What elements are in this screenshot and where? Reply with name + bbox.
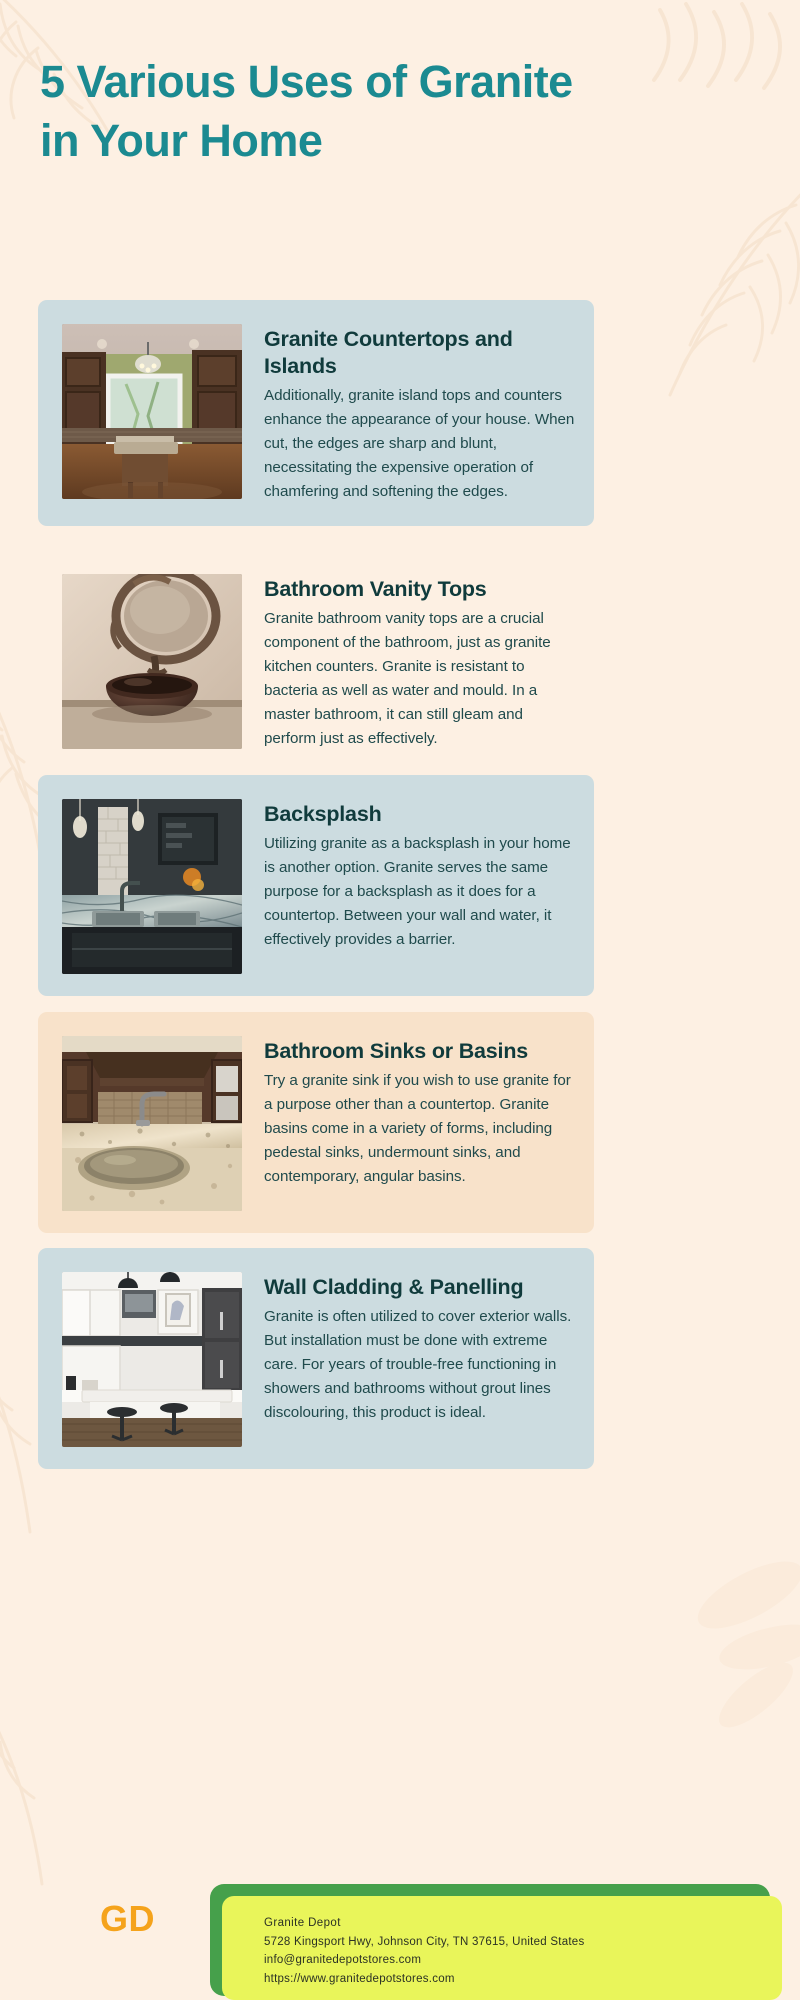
card-3-title: Backsplash — [264, 801, 578, 828]
card-granite-countertops: Granite Countertops and Islands Addition… — [38, 300, 594, 526]
infographic-page: 5 Various Uses of Granite in Your Home — [0, 0, 800, 2000]
card-1-thumbnail — [62, 324, 242, 499]
kitchen-island-photo — [62, 324, 242, 499]
card-bathroom-sinks-basins: Bathroom Sinks or Basins Try a granite s… — [38, 1012, 594, 1233]
card-3-thumbnail — [62, 799, 242, 974]
footer-website[interactable]: https://www.granitedepotstores.com — [264, 1970, 782, 1989]
card-2-body: Bathroom Vanity Tops Granite bathroom va… — [264, 574, 578, 751]
brand-logo: GD — [100, 1898, 155, 1940]
card-2-title: Bathroom Vanity Tops — [264, 576, 578, 603]
card-5-title: Wall Cladding & Panelling — [264, 1274, 578, 1301]
backsplash-photo — [62, 799, 242, 974]
white-kitchen-photo — [62, 1272, 242, 1447]
card-1-body: Granite Countertops and Islands Addition… — [264, 324, 578, 504]
card-bathroom-vanity-tops: Bathroom Vanity Tops Granite bathroom va… — [38, 550, 594, 773]
footer-company-name: Granite Depot — [264, 1914, 782, 1933]
card-2-text: Granite bathroom vanity tops are a cruci… — [264, 607, 578, 751]
card-5-thumbnail — [62, 1272, 242, 1447]
card-wall-cladding-panelling: Wall Cladding & Panelling Granite is oft… — [38, 1248, 594, 1469]
card-4-text: Try a granite sink if you wish to use gr… — [264, 1069, 578, 1189]
card-2-thumbnail — [62, 574, 242, 749]
card-3-body: Backsplash Utilizing granite as a backsp… — [264, 799, 578, 952]
card-4-title: Bathroom Sinks or Basins — [264, 1038, 578, 1065]
page-title: 5 Various Uses of Granite in Your Home — [40, 52, 580, 171]
granite-sink-photo — [62, 1036, 242, 1211]
bathroom-vanity-photo — [62, 574, 242, 749]
card-1-title: Granite Countertops and Islands — [264, 326, 578, 380]
card-3-text: Utilizing granite as a backsplash in you… — [264, 832, 578, 952]
card-5-body: Wall Cladding & Panelling Granite is oft… — [264, 1272, 578, 1425]
footer-email[interactable]: info@granitedepotstores.com — [264, 1951, 782, 1970]
footer-address: 5728 Kingsport Hwy, Johnson City, TN 376… — [264, 1933, 782, 1952]
card-1-text: Additionally, granite island tops and co… — [264, 384, 578, 504]
card-4-body: Bathroom Sinks or Basins Try a granite s… — [264, 1036, 578, 1189]
card-backsplash: Backsplash Utilizing granite as a backsp… — [38, 775, 594, 996]
card-5-text: Granite is often utilized to cover exter… — [264, 1305, 578, 1425]
card-4-thumbnail — [62, 1036, 242, 1211]
footer-contact-card: Granite Depot 5728 Kingsport Hwy, Johnso… — [222, 1896, 782, 2000]
